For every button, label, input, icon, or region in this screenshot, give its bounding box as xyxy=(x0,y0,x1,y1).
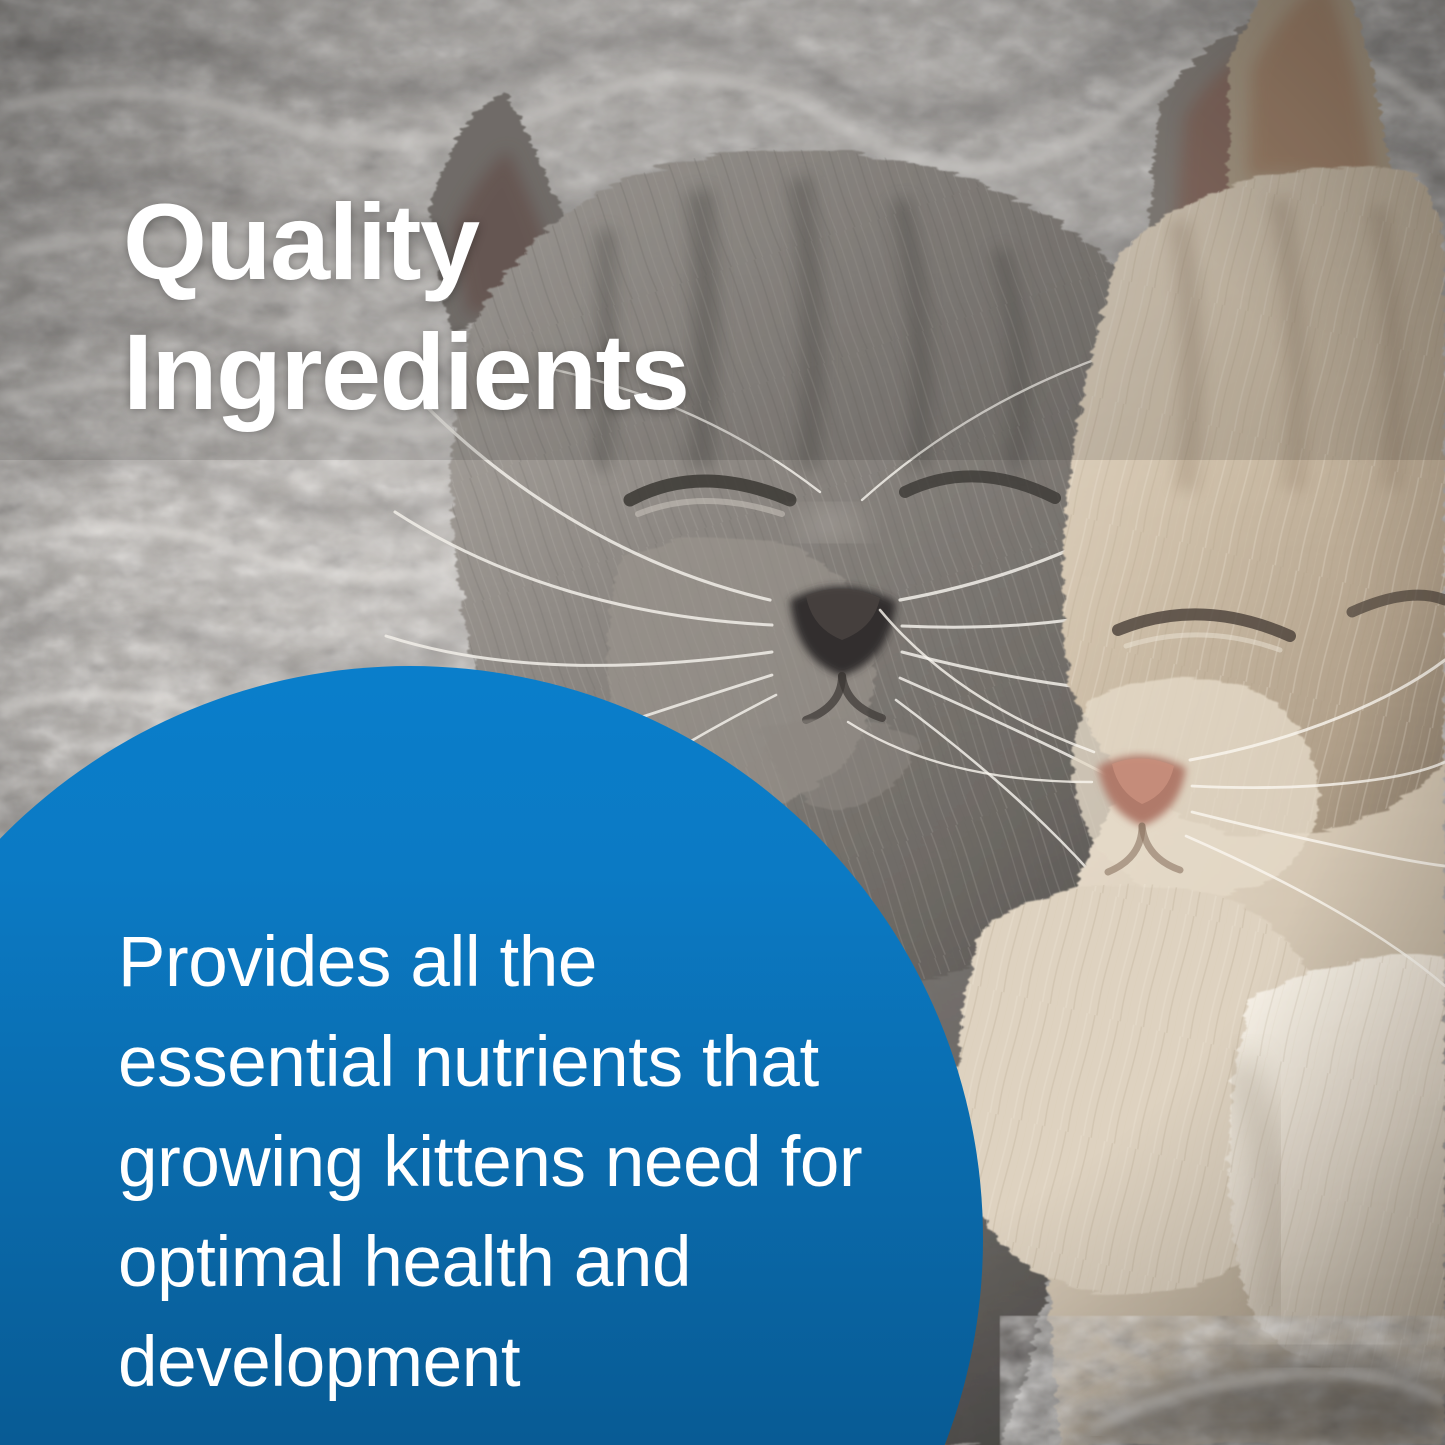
body-line-2: essential nutrients that xyxy=(118,1013,908,1113)
headline-line-1: Quality xyxy=(123,177,903,307)
body-line-1: Provides all the xyxy=(118,913,908,1013)
promo-poster: Quality Ingredients Provides all the ess… xyxy=(0,0,1445,1445)
body-copy: Provides all the essential nutrients tha… xyxy=(118,913,908,1413)
body-line-3: growing kittens need for xyxy=(118,1113,908,1213)
body-line-4: optimal health and xyxy=(118,1213,908,1313)
page-title: Quality Ingredients xyxy=(123,177,903,436)
headline-line-2: Ingredients xyxy=(123,307,903,437)
body-line-5: development xyxy=(118,1313,908,1413)
